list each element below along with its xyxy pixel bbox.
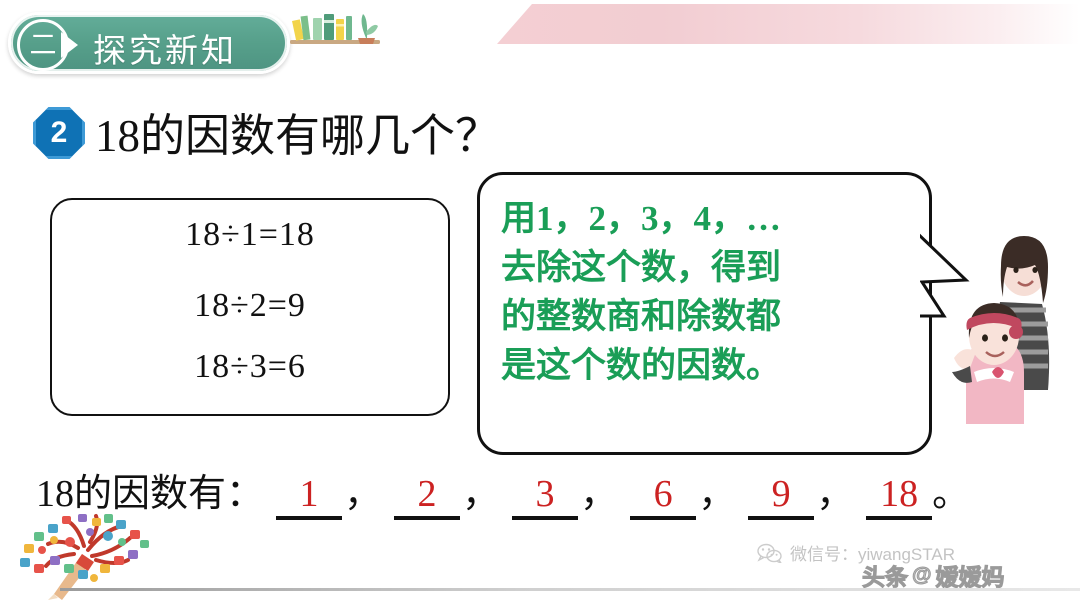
- answer-blank[interactable]: 6: [630, 472, 696, 520]
- question-number-badge: 2: [33, 107, 85, 159]
- header-index-label: 二: [17, 19, 69, 71]
- toutiao-prefix: 头条: [862, 558, 908, 592]
- question-number-label: 2: [33, 107, 85, 159]
- answer-separator: ，: [344, 462, 382, 517]
- equation-line: 18÷2=9: [52, 287, 448, 325]
- bottom-divider: [60, 588, 1080, 591]
- header-title: 探究新知: [93, 24, 237, 72]
- answer-label: 18的因数有：: [36, 462, 264, 517]
- question-title: 18的因数有哪几个？: [95, 99, 500, 164]
- toutiao-watermark: 头条 @ 嫒嫒妈: [862, 558, 1005, 592]
- toutiao-name: 嫒嫒妈: [936, 558, 1005, 592]
- speech-bubble: 用1，2，3，4，… 去除这个数，得到 的整数商和除数都 是这个数的因数。: [477, 172, 932, 455]
- answer-blank[interactable]: 9: [748, 472, 814, 520]
- answer-blank[interactable]: 2: [394, 472, 460, 520]
- answer-separator: ，: [698, 462, 736, 517]
- answer-separator: ，: [580, 462, 618, 517]
- answer-separator: ，: [462, 462, 500, 517]
- slide-canvas: 二 探究新知 2 18的因数有哪几个？ 18÷1=18 18÷2=9 18÷3=…: [0, 0, 1080, 608]
- equations-box: 18÷1=18 18÷2=9 18÷3=6: [50, 198, 450, 416]
- at-icon: @: [912, 564, 932, 587]
- answer-blank[interactable]: 3: [512, 472, 578, 520]
- answer-terminator: 。: [932, 462, 970, 517]
- answer-blank[interactable]: 1: [276, 472, 342, 520]
- equation-line: 18÷1=18: [52, 216, 448, 254]
- wechat-icon: [757, 543, 783, 563]
- equation-line: 18÷3=6: [52, 348, 448, 386]
- answer-blank[interactable]: 18: [866, 472, 932, 520]
- characters-illustration: [948, 232, 1060, 424]
- answer-separator: ，: [816, 462, 854, 517]
- bookshelf-icon: [282, 2, 387, 48]
- speech-bubble-text: 用1，2，3，4，… 去除这个数，得到 的整数商和除数都 是这个数的因数。: [501, 194, 901, 390]
- answer-row: 18的因数有： 1 ， 2 ， 3 ， 6 ， 9 ， 18 。: [36, 462, 970, 520]
- section-header-banner: 二 探究新知: [8, 12, 290, 74]
- pink-banner-decoration: [497, 4, 1080, 44]
